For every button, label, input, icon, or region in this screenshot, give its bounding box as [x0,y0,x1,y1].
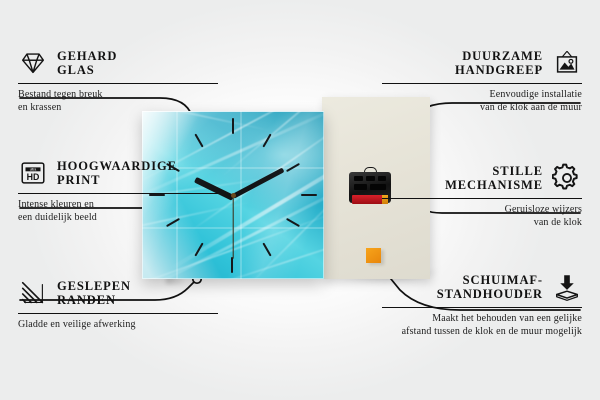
feature-description: Bestand tegen breuk en krassen [18,89,218,114]
divider [382,83,582,84]
feature-stille-mechanisme[interactable]: STILLE MECHANISME Geruisloze wijzers van… [382,163,582,229]
feature-header: SCHUIMAF- STANDHOUDER [382,272,582,302]
feature-description: Intense kleuren en een duidelijk beeld [18,199,218,224]
feature-description: Eenvoudige installatie van de klok aan d… [382,89,582,114]
hands-hub [231,193,236,198]
feature-title: GEHARD GLAS [57,49,117,78]
svg-text:ultra: ultra [30,167,37,171]
foam-spacer-pad [366,248,381,263]
feature-schuimafstandhouder[interactable]: SCHUIMAF- STANDHOUDER Maakt het behouden… [382,272,582,338]
diamond-icon [18,48,48,78]
divider [18,313,218,314]
divider [18,193,218,194]
feature-title: HOOGWAARDIGE PRINT [57,159,177,188]
feature-title: SCHUIMAF- STANDHOUDER [437,273,543,302]
feature-description: Maakt het behouden van een gelijke afsta… [382,313,582,338]
ultra-hd-icon: ultra HD [18,158,48,188]
feature-gehard-glas[interactable]: GEHARD GLAS Bestand tegen breuk en krass… [18,48,218,114]
feature-header: ultra HD HOOGWAARDIGE PRINT [18,158,218,188]
feature-description: Geruisloze wijzers van de klok [382,204,582,229]
feature-header: DUURZAME HANDGREEP [382,48,582,78]
feature-title: GESLEPEN RANDEN [57,279,131,308]
spacer-download-icon [552,272,582,302]
bevelled-edge-icon [18,278,48,308]
infographic-stage: GEHARD GLAS Bestand tegen breuk en krass… [0,0,600,400]
feature-hoogwaardige-print[interactable]: ultra HD HOOGWAARDIGE PRINT Intense kleu… [18,158,218,224]
feature-geslepen-randen[interactable]: GESLEPEN RANDEN Gladde en veilige afwerk… [18,278,218,332]
divider [18,83,218,84]
feature-header: GESLEPEN RANDEN [18,278,218,308]
divider [382,198,582,199]
framed-picture-hanging-icon [552,48,582,78]
divider [382,307,582,308]
gear-icon [552,163,582,193]
svg-text:HD: HD [27,172,40,182]
feature-duurzame-handgreep[interactable]: DUURZAME HANDGREEP Eenvoudige installati… [382,48,582,114]
feature-header: STILLE MECHANISME [382,163,582,193]
second-hand [232,197,233,259]
feature-description: Gladde en veilige afwerking [18,319,218,332]
feature-header: GEHARD GLAS [18,48,218,78]
feature-title: DUURZAME HANDGREEP [455,49,543,78]
feature-title: STILLE MECHANISME [445,164,543,193]
